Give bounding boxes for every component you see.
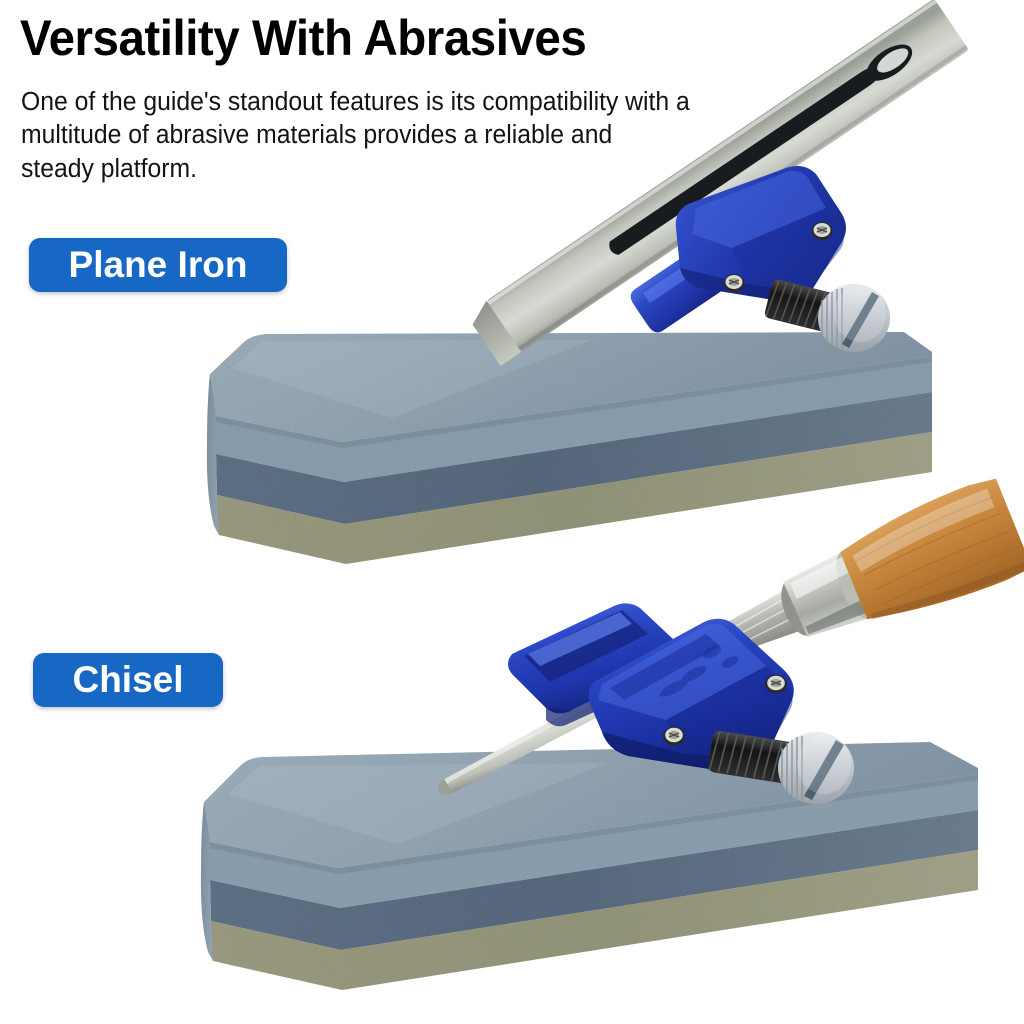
honing-guide-bottom (498, 596, 898, 846)
infographic-page: Versatility With Abrasives One of the gu… (0, 0, 1024, 1024)
clamp-screw-lower (724, 274, 745, 292)
clamp-screw-upper (812, 222, 833, 240)
clamp-screw-lower-left (663, 727, 685, 746)
honing-guide-top (636, 142, 936, 392)
knurled-thumb-wheel[interactable] (818, 284, 890, 352)
clamp-screw-upper-right (765, 675, 787, 694)
knurled-thumb-wheel-bottom[interactable] (778, 732, 854, 804)
badge-chisel-label: Chisel (72, 659, 183, 701)
badge-chisel: Chisel (33, 653, 223, 707)
badge-plane-iron: Plane Iron (29, 238, 287, 292)
badge-plane-iron-label: Plane Iron (69, 244, 248, 286)
